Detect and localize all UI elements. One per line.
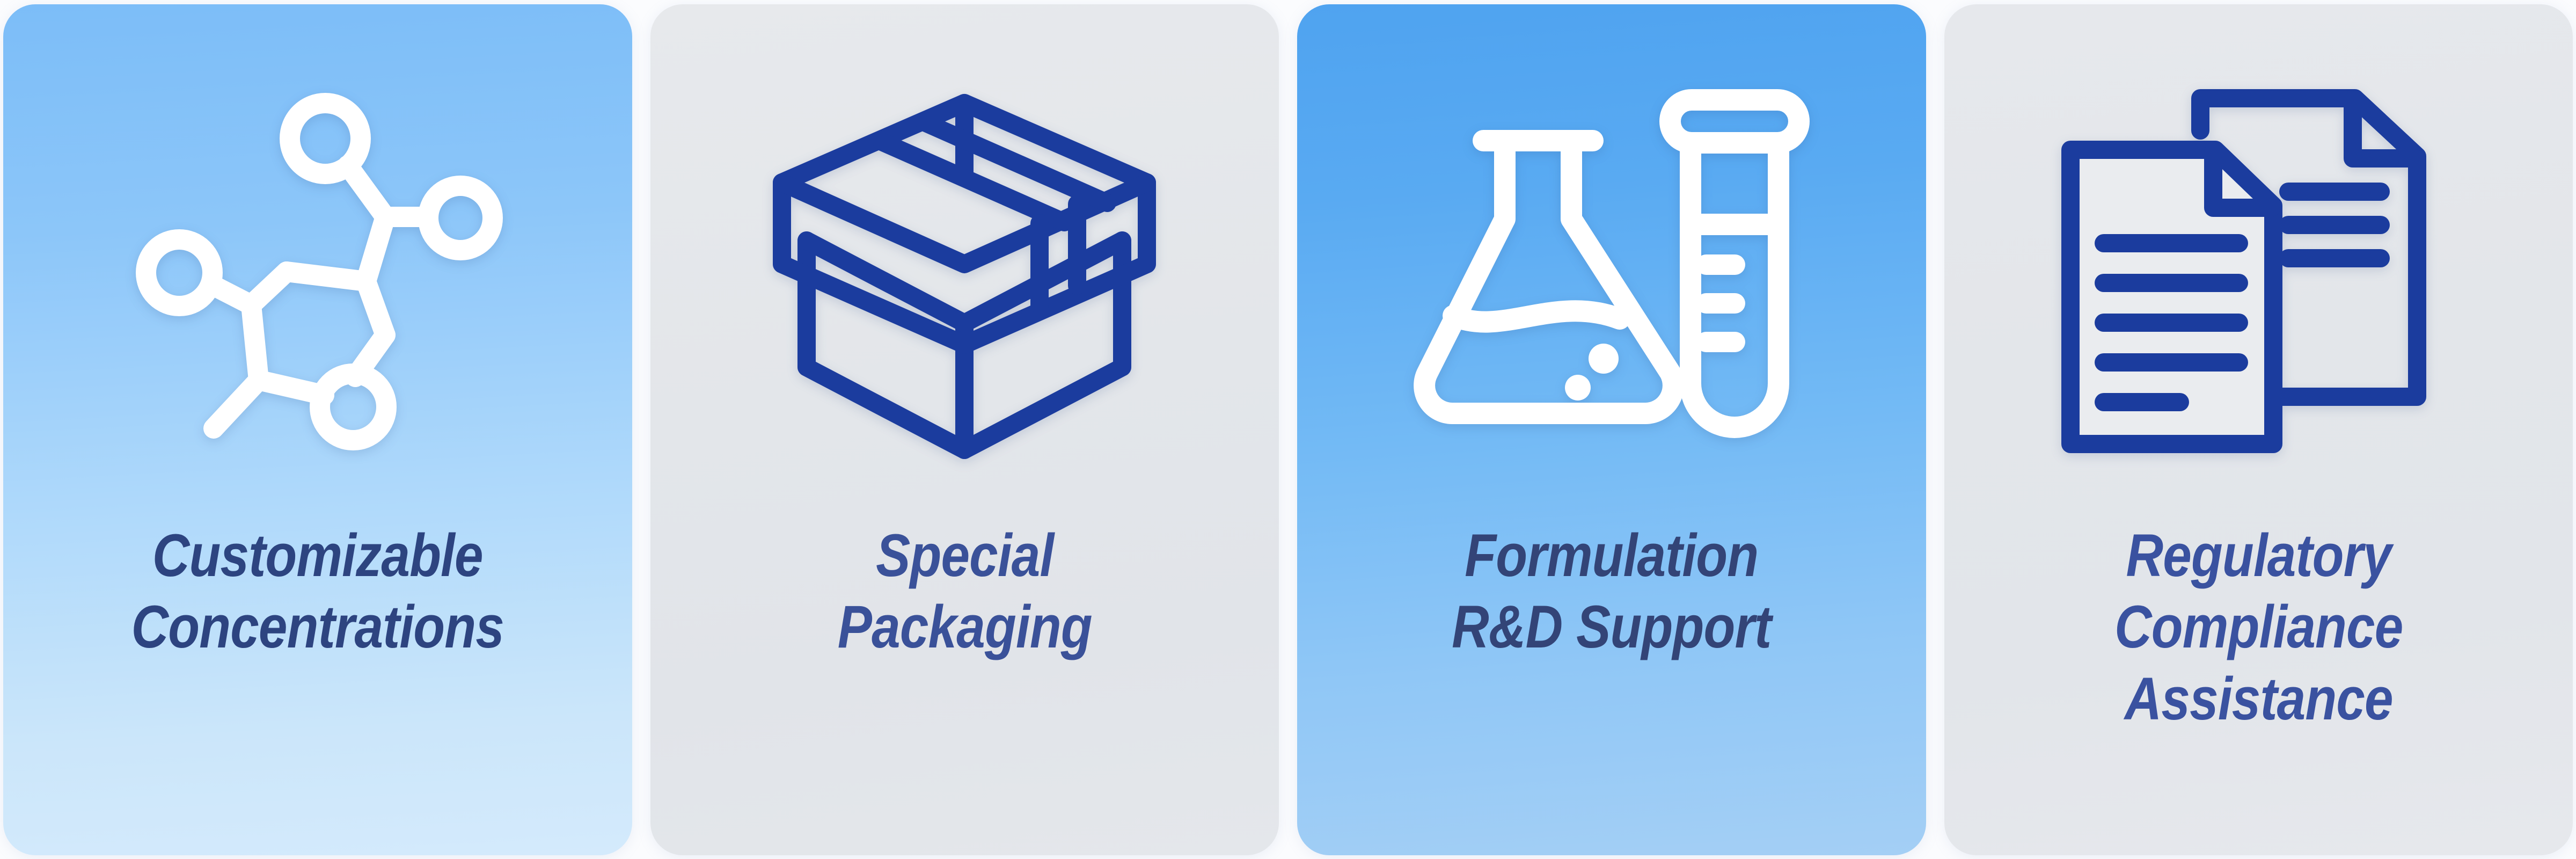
icon-container [1944,4,2573,520]
card-title-special-packaging: Special Packaging [694,520,1235,663]
molecule-node-bottom [320,374,386,440]
card-title-formulation-rd-support: Formulation R&D Support [1341,520,1882,663]
feature-cards-row: Customizable Concentrations [0,0,2576,859]
molecule-icon [98,74,538,471]
erlenmeyer-flask [1424,141,1673,413]
molecule-node-right [428,186,493,250]
feature-card-regulatory-compliance-assistance[interactable]: Regulatory Compliance Assistance [1944,4,2573,855]
card-title-regulatory-compliance-assistance: Regulatory Compliance Assistance [1988,520,2529,734]
flask-bubbles [1565,344,1619,401]
molecule-node-left [146,239,213,306]
icon-container [1297,4,1926,520]
package-box-icon [755,79,1174,466]
feature-card-special-packaging[interactable]: Special Packaging [650,4,1279,855]
flask-and-test-tube-icon [1400,74,1824,471]
molecule-node-top [290,103,361,174]
feature-card-customizable-concentrations[interactable]: Customizable Concentrations [3,4,632,855]
documents-icon [2044,77,2473,469]
card-title-customizable-concentrations: Customizable Concentrations [47,520,588,663]
document-back-text-lines [2288,192,2381,258]
icon-container [3,4,632,520]
test-tube-graduations [1696,254,1745,352]
feature-card-formulation-rd-support[interactable]: Formulation R&D Support [1297,4,1926,855]
icon-container [650,4,1279,520]
